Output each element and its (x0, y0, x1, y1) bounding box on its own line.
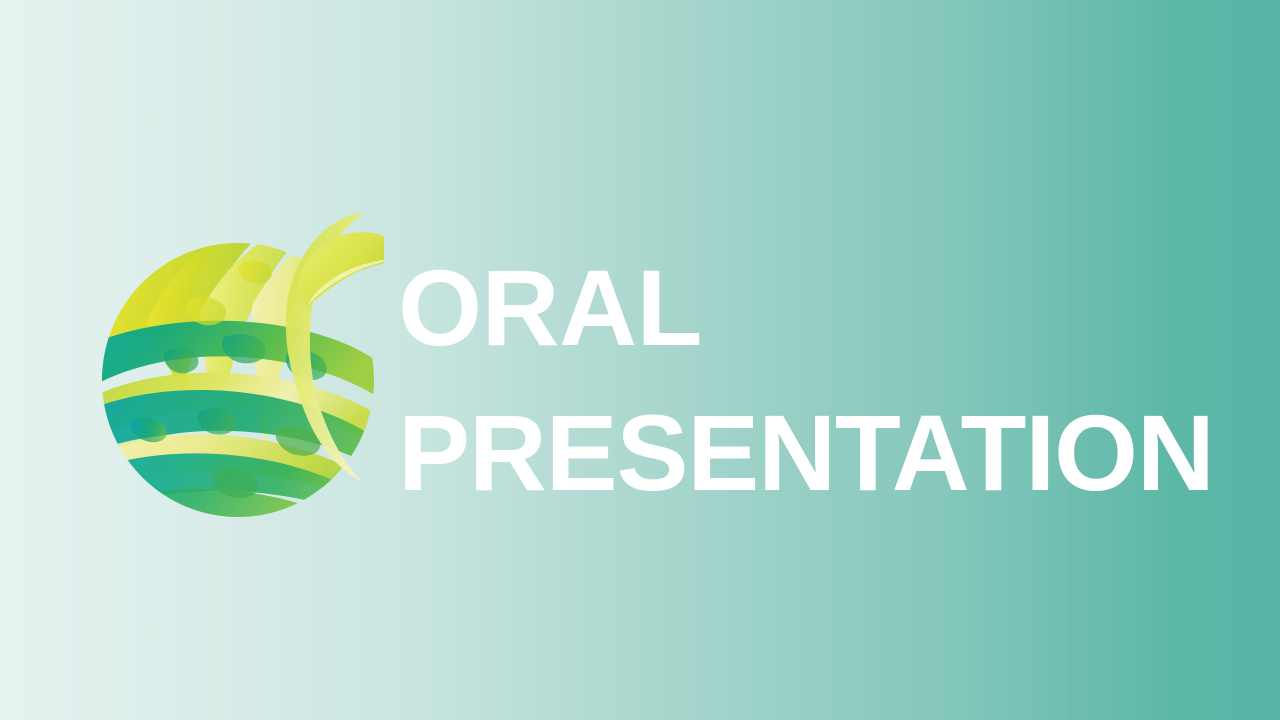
title-line-one: ORAL (398, 236, 1198, 381)
presentation-slide: ORAL PRESENTATION (0, 0, 1280, 720)
leaf-icon (299, 232, 384, 307)
globe-leaf-logo (92, 205, 384, 517)
title-line-two: PRESENTATION (398, 381, 1198, 526)
slide-title: ORAL PRESENTATION (398, 236, 1198, 525)
